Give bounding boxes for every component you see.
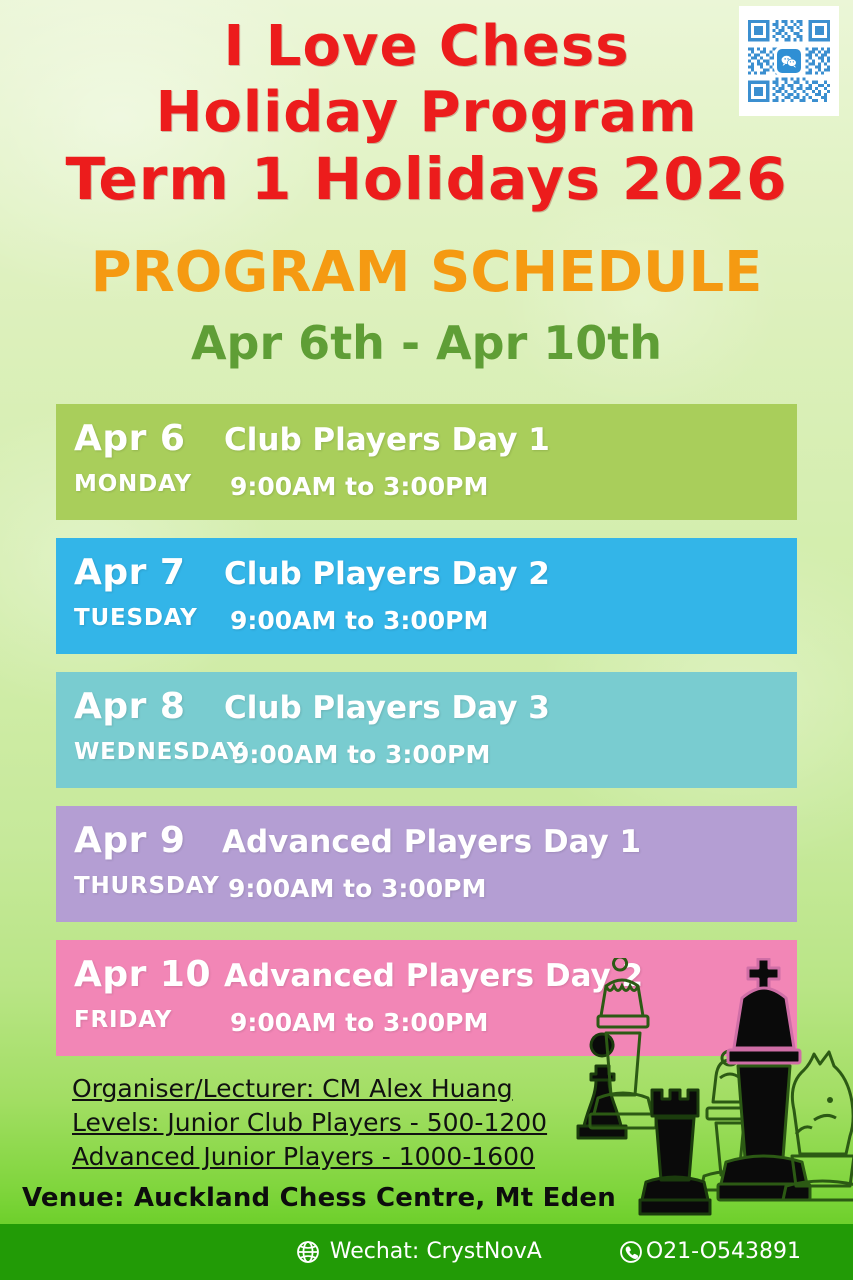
chess-knight-icon — [783, 1052, 853, 1200]
schedule-row-tuesday[interactable]: Apr 7 TUESDAY Club Players Day 2 9:00AM … — [56, 538, 797, 654]
row-event: Advanced Players Day 1 — [222, 822, 641, 862]
chess-rook-icon — [640, 1090, 710, 1214]
row-weekday: WEDNESDAY — [74, 738, 244, 766]
row-date: Apr 6 — [74, 418, 185, 460]
row-date: Apr 9 — [74, 820, 185, 862]
row-weekday: THURSDAY — [74, 872, 220, 900]
row-time: 9:00AM to 3:00PM — [230, 472, 488, 502]
title-line-2: Holiday Program — [0, 80, 853, 146]
schedule-row-thursday[interactable]: Apr 9 THURSDAY Advanced Players Day 1 9:… — [56, 806, 797, 922]
row-weekday: TUESDAY — [74, 604, 198, 632]
program-details: Organiser/Lecturer: CM Alex Huang Levels… — [72, 1072, 592, 1174]
poster-canvas: I Love Chess Holiday Program Term 1 Holi… — [0, 0, 853, 1280]
title-line-3: Term 1 Holidays 2026 — [0, 146, 853, 212]
levels-junior-line: Levels: Junior Club Players - 500-1200 — [72, 1106, 592, 1140]
organiser-line: Organiser/Lecturer: CM Alex Huang — [72, 1072, 592, 1106]
row-time: 9:00AM to 3:00PM — [230, 1008, 488, 1038]
schedule-row-wednesday[interactable]: Apr 8 WEDNESDAY Club Players Day 3 9:00A… — [56, 672, 797, 788]
row-event: Club Players Day 3 — [224, 688, 550, 728]
row-weekday: MONDAY — [74, 470, 192, 498]
row-date: Apr 8 — [74, 686, 185, 728]
row-date: Apr 10 — [74, 954, 211, 996]
row-time: 9:00AM to 3:00PM — [232, 740, 490, 770]
contact-bar: Wechat: CrystNovA O21-O543891 — [0, 1224, 853, 1280]
row-event: Advanced Players Day 2 — [224, 956, 643, 996]
row-weekday: FRIDAY — [74, 1006, 172, 1034]
globe-icon — [295, 1239, 321, 1265]
phone-icon — [618, 1239, 644, 1265]
schedule-list: Apr 6 MONDAY Club Players Day 1 9:00AM t… — [56, 404, 797, 1074]
row-event: Club Players Day 2 — [224, 554, 550, 594]
phone-contact[interactable]: O21-O543891 — [618, 1239, 801, 1265]
row-time: 9:00AM to 3:00PM — [228, 874, 486, 904]
phone-number: O21-O543891 — [646, 1239, 801, 1265]
row-time: 9:00AM to 3:00PM — [230, 606, 488, 636]
poster-title: I Love Chess Holiday Program Term 1 Holi… — [0, 14, 853, 212]
wechat-contact[interactable]: Wechat: CrystNovA — [295, 1239, 542, 1265]
row-date: Apr 7 — [74, 552, 185, 594]
schedule-row-friday[interactable]: Apr 10 FRIDAY Advanced Players Day 2 9:0… — [56, 940, 797, 1056]
schedule-date-range: Apr 6th - Apr 10th — [0, 315, 853, 371]
row-event: Club Players Day 1 — [224, 420, 550, 460]
wechat-handle: Wechat: CrystNovA — [330, 1239, 542, 1265]
schedule-row-monday[interactable]: Apr 6 MONDAY Club Players Day 1 9:00AM t… — [56, 404, 797, 520]
levels-advanced-line: Advanced Junior Players - 1000-1600 — [72, 1140, 592, 1174]
title-line-1: I Love Chess — [0, 14, 853, 80]
venue-line: Venue: Auckland Chess Centre, Mt Eden — [22, 1182, 616, 1214]
schedule-heading: PROGRAM SCHEDULE — [0, 240, 853, 306]
